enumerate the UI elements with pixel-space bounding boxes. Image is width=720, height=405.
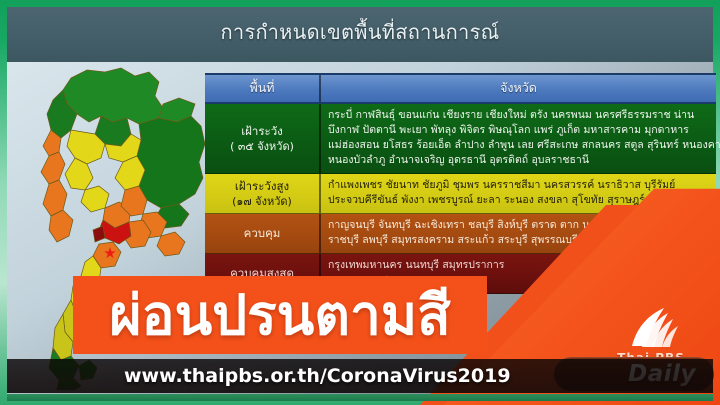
province-line: กำแพงเพชร ชัยนาท ชัยภูมิ ชุมพร นครราชสีม… bbox=[328, 178, 709, 193]
page-title: การกำหนดเขตพื้นที่สถานการณ์ bbox=[7, 16, 713, 48]
province-line: หนองบัวลำภู อำนาจเจริญ อุดรธานี อุตรดิตถ… bbox=[328, 153, 720, 168]
title-bar: การกำหนดเขตพื้นที่สถานการณ์ bbox=[7, 7, 713, 62]
headline-text: ผ่อนปรนตามสี bbox=[109, 286, 450, 344]
zone-label-control: ควบคุม bbox=[205, 214, 321, 253]
column-header-provinces: จังหวัด bbox=[321, 75, 716, 102]
province-line: แม่ฮ่องสอน ยโสธร ร้อยเอ็ด ลำปาง ลำพูน เล… bbox=[328, 138, 720, 153]
thaipbs-bird-icon bbox=[620, 306, 682, 350]
broadcast-graphic: การกำหนดเขตพื้นที่สถานการณ์ bbox=[0, 0, 720, 405]
zone-count: ( ๓๕ จังหวัด) bbox=[230, 139, 294, 154]
province-line: บึงกาฬ ปัตตานี พะเยา พัทลุง พิจิตร พิษณุ… bbox=[328, 123, 720, 138]
zone-label-surveillance: เฝ้าระวัง ( ๓๕ จังหวัด) bbox=[205, 104, 321, 173]
zone-name: เฝ้าระวัง bbox=[241, 124, 283, 139]
zone-provinces-surveillance: กระบี่ กาฬสินธุ์ ขอนแก่น เชียงราย เชียงใ… bbox=[321, 104, 720, 173]
table-row: เฝ้าระวัง ( ๓๕ จังหวัด) กระบี่ กาฬสินธุ์… bbox=[205, 104, 716, 174]
zone-name: เฝ้าระวังสูง bbox=[235, 179, 289, 194]
bangkok-star-marker: ★ bbox=[103, 244, 116, 262]
zone-count: (๑๗ จังหวัด) bbox=[232, 194, 292, 209]
zone-name: ควบคุม bbox=[244, 226, 281, 241]
bottom-green-strip bbox=[7, 394, 713, 401]
zone-label-high-surveillance: เฝ้าระวังสูง (๑๗ จังหวัด) bbox=[205, 174, 321, 213]
headline-banner: ผ่อนปรนตามสี bbox=[73, 276, 487, 354]
website-url: www.thaipbs.or.th/CoronaVirus2019 bbox=[124, 365, 511, 387]
province-line: กระบี่ กาฬสินธุ์ ขอนแก่น เชียงราย เชียงใ… bbox=[328, 108, 720, 123]
table-header-row: พื้นที่ จังหวัด bbox=[205, 73, 716, 104]
column-header-area: พื้นที่ bbox=[205, 75, 321, 102]
